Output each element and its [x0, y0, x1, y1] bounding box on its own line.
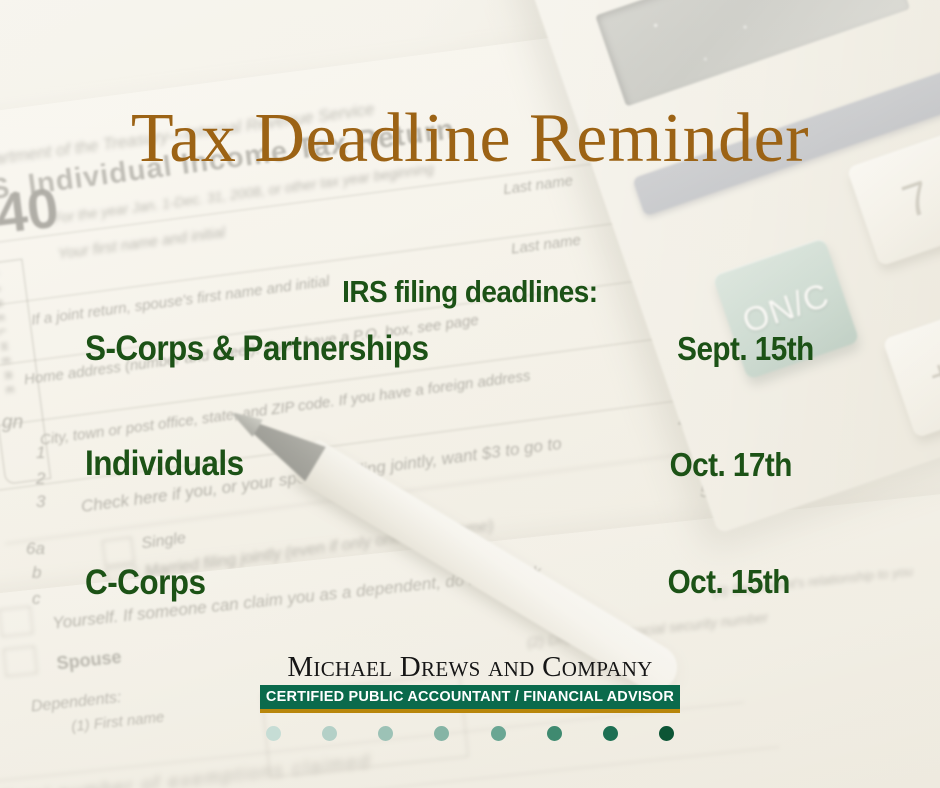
logo-name-and: AND	[488, 657, 534, 681]
logo-name-d: D	[400, 651, 421, 683]
logo-dot-7	[659, 726, 674, 741]
deadline-row-date-c-corps: Oct. 15th	[654, 563, 790, 601]
deadline-row-label-c-corps: C-Corps	[85, 563, 219, 603]
company-logo: MICHAEL DREWS AND COMPANY CERTIFIED PUBL…	[260, 652, 680, 741]
logo-dot-0	[266, 726, 281, 741]
logo-dot-1	[322, 726, 337, 741]
logo-name-rews: REWS	[421, 657, 481, 681]
logo-dot-5	[547, 726, 562, 741]
page-title: Tax Deadline Reminder	[0, 104, 940, 174]
logo-company-name: MICHAEL DREWS AND COMPANY	[260, 652, 680, 682]
logo-name-ompany: OMPANY	[562, 657, 653, 681]
deadline-label-0: S-Corps & Partnerships	[85, 329, 428, 369]
logo-dot-3	[434, 726, 449, 741]
deadline-row-date-s-corps: Sept. 15th	[662, 330, 814, 368]
logo-tagline-band: CERTIFIED PUBLIC ACCOUNTANT / FINANCIAL …	[260, 685, 680, 713]
deadline-row-label-individuals: Individuals	[85, 444, 261, 484]
deadline-date-1: Oct. 17th	[670, 446, 792, 484]
logo-dot-6	[603, 726, 618, 741]
logo-name-m: M	[287, 651, 313, 683]
logo-dot-2	[378, 726, 393, 741]
deadline-label-1: Individuals	[85, 444, 244, 484]
logo-dot-4	[491, 726, 506, 741]
deadline-date-2: Oct. 15th	[668, 563, 790, 601]
logo-dot-row	[260, 726, 680, 741]
deadline-row-label-s-corps: S-Corps & Partnerships	[85, 329, 467, 369]
logo-name-c: C	[542, 651, 562, 683]
deadlines-heading-text: IRS filing deadlines:	[342, 274, 597, 310]
deadline-row-date-individuals: Oct. 17th	[656, 446, 792, 484]
logo-name-ichael: ICHAEL	[313, 657, 392, 681]
poster-canvas: Department of the Treasury—Internal Reve…	[0, 0, 940, 788]
deadline-date-0: Sept. 15th	[677, 330, 814, 368]
deadline-label-2: C-Corps	[85, 563, 205, 603]
deadlines-heading: IRS filing deadlines:	[0, 274, 940, 310]
logo-tagline: CERTIFIED PUBLIC ACCOUNTANT / FINANCIAL …	[260, 689, 680, 705]
